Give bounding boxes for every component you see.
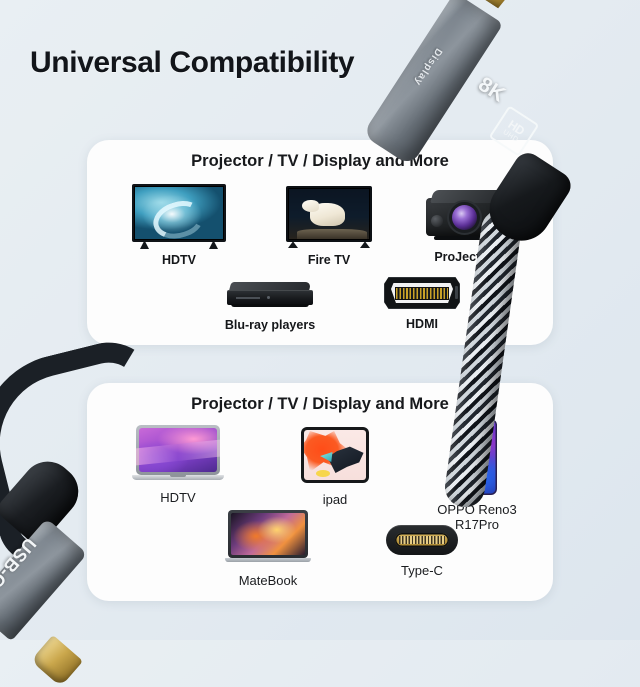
page-title: Universal Compatibility	[30, 46, 354, 80]
tv-icon	[132, 184, 226, 242]
device-ipad: ipad	[265, 427, 405, 508]
device-fire-tv: Fire TV	[259, 186, 399, 267]
device-label: HDTV	[109, 253, 249, 267]
ipad-icon	[301, 427, 369, 483]
usbc-gold-tip	[31, 635, 83, 687]
device-label: ipad	[265, 493, 405, 508]
hdmi-cable-end: Display 8K HD UHD	[392, 0, 640, 290]
matebook-icon	[225, 510, 311, 568]
device-blu-ray-players: Blu-ray players	[197, 282, 343, 332]
usbc-cable-end: USB-C	[0, 352, 218, 652]
product-image-canvas: Universal Compatibility Projector / TV /…	[0, 0, 640, 640]
device-hdtv: HDTV	[109, 184, 249, 267]
blu-ray-player-icon	[227, 282, 313, 310]
device-label: Type-C	[355, 564, 489, 579]
device-label: Blu-ray players	[197, 318, 343, 332]
hd-uhd-badge: HD UHD	[489, 105, 540, 156]
fire-tv-icon	[286, 186, 372, 242]
device-label: Fire TV	[259, 253, 399, 267]
hdmi-8k-text: 8K	[474, 73, 510, 108]
